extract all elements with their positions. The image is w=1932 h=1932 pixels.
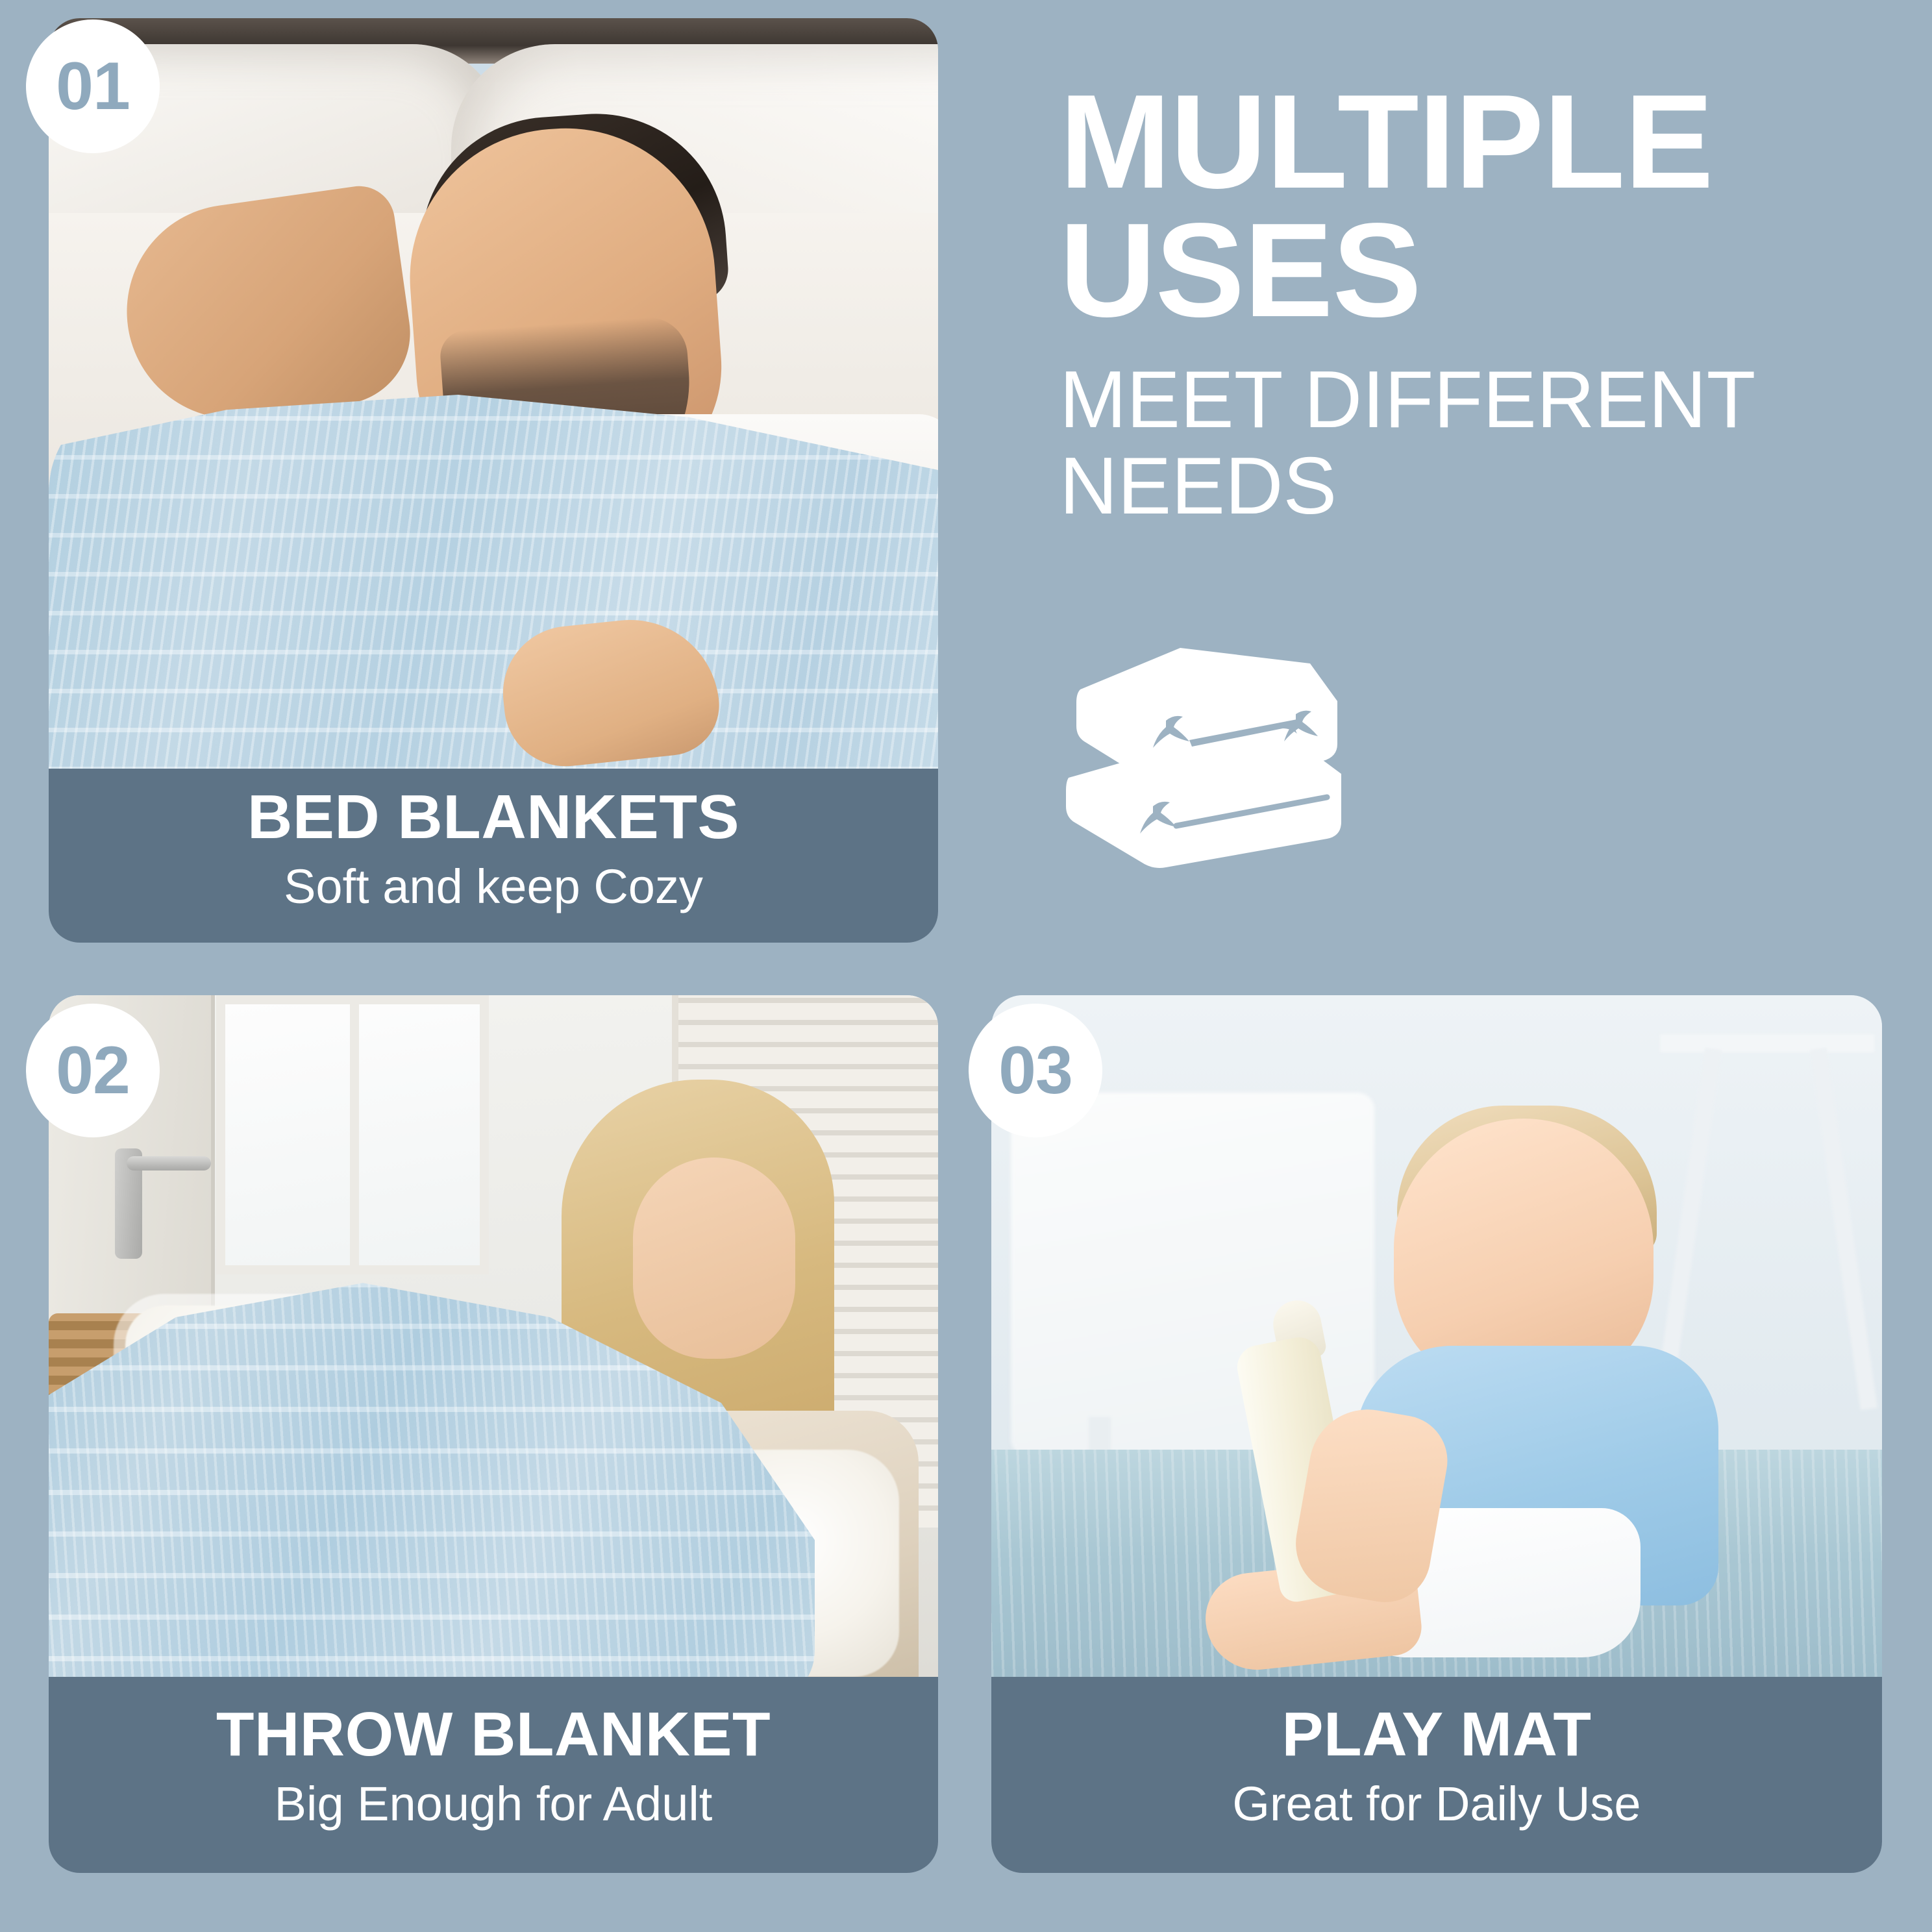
- page-title: MULTIPLE USES: [1059, 78, 1903, 335]
- folded-blankets-icon: [1062, 630, 1348, 889]
- door-handle: [127, 1156, 211, 1170]
- window-mullion: [350, 995, 359, 1274]
- card-caption-bed-blankets: BED BLANKETS Soft and keep Cozy: [49, 769, 938, 943]
- headline-panel: MULTIPLE USES MEET DIFFERENT NEEDS: [1059, 78, 1903, 530]
- blue-blanket: [49, 395, 938, 771]
- step-badge-01: 01: [26, 19, 160, 153]
- scene-baby-on-mat: [991, 995, 1882, 1678]
- step-badge-01-number: 01: [56, 53, 130, 120]
- card-caption-throw-blanket: THROW BLANKET Big Enough for Adult: [49, 1677, 938, 1873]
- step-badge-03-number: 03: [998, 1037, 1072, 1104]
- woman-face: [633, 1158, 795, 1359]
- page-subtitle: MEET DIFFERENT NEEDS: [1059, 357, 1903, 531]
- scene-woman-with-throw: [49, 995, 938, 1678]
- card-photo-bed-blankets: man sleeping in bed under a light blue w…: [49, 18, 938, 771]
- card-caption-play-mat: PLAY MAT Great for Daily Use: [991, 1677, 1882, 1873]
- table-top: [1660, 1034, 1874, 1052]
- card-title-bed-blankets: BED BLANKETS: [247, 786, 739, 848]
- card-subtitle-bed-blankets: Soft and keep Cozy: [284, 860, 703, 913]
- step-badge-02: 02: [26, 1004, 160, 1137]
- card-photo-play-mat: baby sitting on a light blue blanket hol…: [991, 995, 1882, 1678]
- feature-card-play-mat[interactable]: baby sitting on a light blue blanket hol…: [991, 995, 1882, 1873]
- infographic-page: man sleeping in bed under a light blue w…: [0, 0, 1932, 1932]
- card-title-throw-blanket: THROW BLANKET: [216, 1703, 771, 1766]
- scene-man-sleeping: [49, 18, 938, 771]
- card-subtitle-throw-blanket: Big Enough for Adult: [275, 1777, 713, 1830]
- feature-card-bed-blankets[interactable]: man sleeping in bed under a light blue w…: [49, 18, 938, 943]
- card-photo-throw-blanket: woman on sofa with coffee mug wrapped in…: [49, 995, 938, 1678]
- feature-card-throw-blanket[interactable]: woman on sofa with coffee mug wrapped in…: [49, 995, 938, 1873]
- card-title-play-mat: PLAY MAT: [1282, 1703, 1592, 1766]
- step-badge-03: 03: [969, 1004, 1102, 1137]
- step-badge-02-number: 02: [56, 1037, 130, 1104]
- card-subtitle-play-mat: Great for Daily Use: [1232, 1777, 1641, 1830]
